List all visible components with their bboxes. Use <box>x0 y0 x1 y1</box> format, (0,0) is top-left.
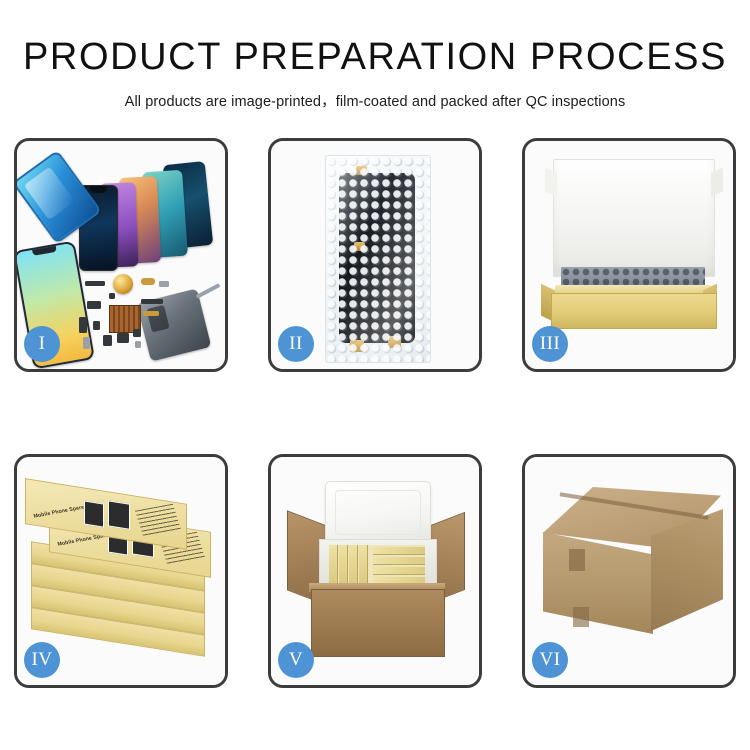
process-step-4: Mobile Phone Spare Parts Mobile Phone Sp… <box>14 454 228 688</box>
process-step-6: VI <box>522 454 736 688</box>
bag-sheen <box>326 156 430 362</box>
box-artwork-swatch <box>84 501 104 528</box>
bubble-wrap-bag <box>325 155 431 363</box>
step-badge-5: V <box>278 642 314 678</box>
tweezers-icon <box>196 283 221 299</box>
retail-box-edge <box>339 545 348 587</box>
process-step-grid: I II <box>14 138 736 688</box>
step-badge-1: I <box>24 326 60 362</box>
page-title: PRODUCT PREPARATION PROCESS <box>0 36 750 79</box>
component-part <box>83 337 90 349</box>
retail-box-face <box>373 567 425 575</box>
component-part <box>141 299 163 304</box>
step-badge-2: II <box>278 326 314 362</box>
component-part <box>135 341 141 348</box>
component-part <box>79 317 87 333</box>
foam-lid <box>553 159 715 277</box>
component-part <box>143 311 159 316</box>
product-preparation-page: PRODUCT PREPARATION PROCESS All products… <box>0 0 750 750</box>
component-part <box>87 301 101 309</box>
component-part <box>109 293 115 299</box>
page-header: PRODUCT PREPARATION PROCESS All products… <box>0 36 750 111</box>
retail-box-face <box>373 557 425 565</box>
retail-box-face <box>373 547 425 555</box>
carton-front-panel <box>311 589 445 657</box>
retail-box-edge <box>349 545 358 587</box>
retail-box-edge <box>359 545 368 587</box>
box-artwork-swatch <box>108 500 130 529</box>
component-part <box>85 281 105 286</box>
carton-tape-upper <box>569 549 585 571</box>
carton-tape-lower <box>573 607 589 627</box>
process-step-3: III <box>522 138 736 372</box>
component-part <box>117 333 129 343</box>
process-step-1: I <box>14 138 228 372</box>
step-badge-4: IV <box>24 642 60 678</box>
packed-retail-boxes <box>329 545 425 587</box>
process-step-2: II <box>268 138 482 372</box>
component-part <box>159 281 169 287</box>
carton-left-face <box>543 532 653 634</box>
process-step-5: V <box>268 454 482 688</box>
coil-component-icon <box>113 274 133 294</box>
foam-box-lid <box>325 481 431 545</box>
component-part <box>93 321 100 330</box>
step-badge-6: VI <box>532 642 568 678</box>
box-front-panel <box>551 293 717 329</box>
component-part <box>141 278 155 285</box>
component-part <box>133 329 141 337</box>
page-subtitle: All products are image-printed，film-coat… <box>0 90 750 111</box>
retail-box-edge <box>329 545 338 587</box>
step-badge-3: III <box>532 326 568 362</box>
component-part <box>103 335 112 346</box>
